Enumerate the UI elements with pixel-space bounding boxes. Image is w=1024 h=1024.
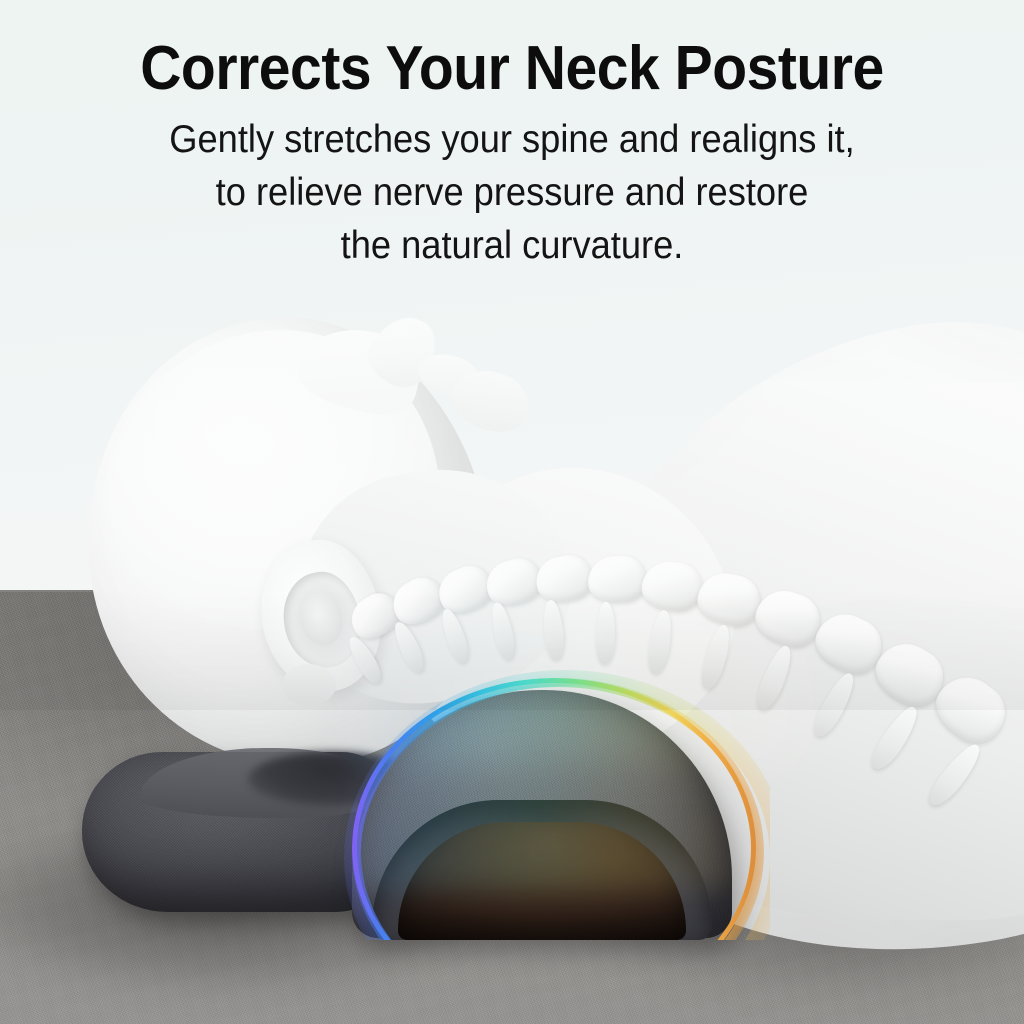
subtitle-line-1: Gently stretches your spine and realigns… — [121, 113, 902, 166]
vertebra-spinous-process — [866, 702, 924, 774]
marketing-copy-block: Corrects Your Neck Posture Gently stretc… — [0, 0, 1024, 272]
product-marketing-image: Corrects Your Neck Posture Gently stretc… — [0, 0, 1024, 1024]
subtitle-line-2: to relieve nerve pressure and restore — [121, 166, 902, 219]
page-title: Corrects Your Neck Posture — [41, 0, 983, 103]
vertebra-spinous-process — [809, 669, 860, 741]
rainbow-glow-on-spine — [350, 580, 800, 760]
vertebra-spinous-process — [924, 739, 987, 811]
subtitle-line-3: the natural curvature. — [121, 219, 902, 272]
page-subtitle: Gently stretches your spine and realigns… — [121, 113, 902, 272]
ear-lobe-shape — [282, 664, 336, 706]
